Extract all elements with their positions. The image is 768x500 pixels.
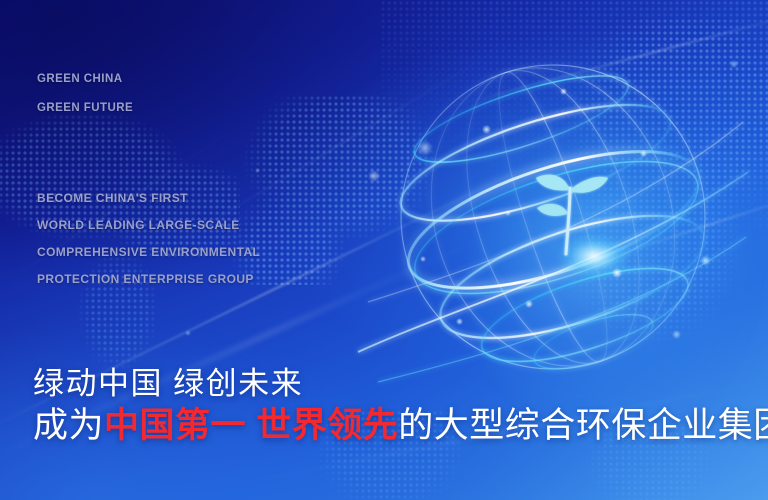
sprout-glow-burst	[536, 218, 652, 294]
bokeh-particle	[505, 210, 511, 216]
halftone-continent-east	[560, 18, 768, 348]
bokeh-particle	[525, 300, 533, 308]
bokeh-particle	[640, 150, 647, 157]
light-streak	[437, 1, 768, 111]
mission-statement: BECOME CHINA'S FIRST WORLD LEADING LARGE…	[37, 185, 260, 293]
headline-suffix: 的大型综合环保企业集团	[398, 406, 768, 445]
bokeh-particle	[368, 170, 380, 182]
halftone-dot-grid-right	[380, 0, 768, 230]
light-streak	[528, 178, 768, 285]
headline-highlight: 中国第一 世界领先	[104, 406, 398, 445]
bokeh-particle	[612, 268, 622, 278]
headline-line-1: 绿动中国 绿创未来	[33, 364, 753, 404]
mission-line: BECOME CHINA'S FIRST	[37, 185, 260, 212]
bokeh-particle	[730, 60, 738, 68]
bokeh-particle	[482, 125, 491, 134]
bokeh-particle	[456, 318, 463, 325]
wireframe-globe	[388, 52, 718, 382]
headline: 绿动中国 绿创未来 成为中国第一 世界领先的大型综合环保企业集团	[33, 364, 753, 448]
tagline-line-2: GREEN FUTURE	[37, 103, 133, 115]
mission-line: PROTECTION ENTERPRISE GROUP	[37, 266, 260, 293]
headline-prefix: 成为	[33, 406, 104, 445]
bokeh-particle	[700, 255, 711, 266]
mission-line: COMPREHENSIVE ENVIRONMENTAL	[37, 239, 260, 266]
bokeh-particle	[255, 168, 260, 173]
mission-line: WORLD LEADING LARGE-SCALE	[37, 212, 260, 239]
sprout-icon	[524, 162, 616, 258]
hero-banner: GREEN CHINA GREEN FUTURE BECOME CHINA'S …	[0, 0, 768, 500]
bokeh-particle	[672, 330, 681, 339]
bokeh-particle	[560, 88, 567, 95]
bokeh-particle	[420, 256, 426, 262]
tagline-line-1: GREEN CHINA	[37, 74, 122, 86]
bokeh-particle	[185, 330, 191, 336]
bokeh-particle	[417, 140, 433, 156]
headline-line-2: 成为中国第一 世界领先的大型综合环保企业集团	[33, 404, 753, 448]
